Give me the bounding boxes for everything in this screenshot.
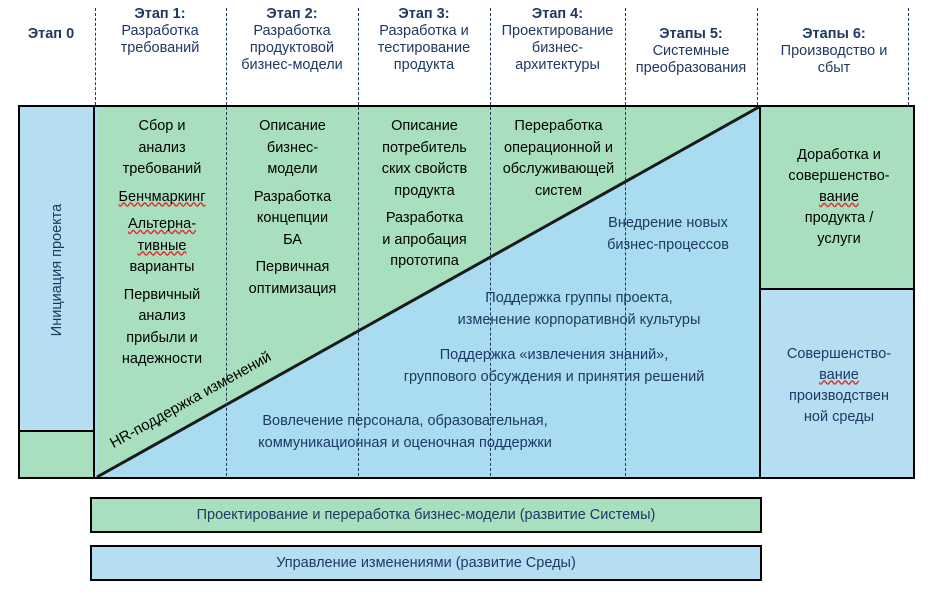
header-stage-4-sub-3: архитектуры — [492, 57, 623, 74]
header-stage-4-title: Этап 4: — [492, 6, 623, 23]
stage5-content: Внедрение новых бизнес-процессов — [578, 212, 758, 256]
legend-bar-environment: Управление изменениями (развитие Среды) — [90, 545, 762, 581]
stage6-green-text: Доработка и совершенство- вание продукта… — [788, 145, 889, 250]
stage2-item-3: Первичная оптимизация — [229, 257, 356, 300]
header-divider-3 — [490, 8, 491, 105]
stage1-item-4: Первичный анализ прибыли и надежности — [99, 285, 225, 371]
header-stage-2-sub-3: бизнес-модели — [228, 57, 356, 74]
header-stage-1-title: Этап 1: — [97, 6, 223, 23]
header-stage-3-sub-2: тестирование — [360, 40, 488, 57]
stage1-item-3: Альтерна- тивные варианты — [99, 214, 225, 279]
header-divider-4 — [625, 8, 626, 105]
header-stage-0-title: Этап 0 — [8, 26, 94, 43]
legend-bar-system: Проектирование и переработка бизнес-моде… — [90, 497, 762, 533]
header-stage-4-sub-1: Проектирование — [492, 23, 623, 40]
header-stage-3: Этап 3: Разработка и тестирование продук… — [360, 6, 488, 74]
header-stage-2-title: Этап 2: — [228, 6, 356, 23]
stage3-content: Описание потребитель ских свойств продук… — [361, 116, 488, 273]
stage0-vertical-label: Инициация проекта — [20, 107, 95, 432]
main-diagram-frame: Инициация проекта Сбор и анализ требован… — [18, 105, 915, 479]
legend-bar-environment-label: Управление изменениями (развитие Среды) — [276, 555, 576, 571]
header-stage-6-sub-2: сбыт — [760, 60, 908, 77]
header-stage-5-sub-2: преобразования — [627, 60, 755, 77]
blue-block-3: Вовлечение персонала, образовательная, к… — [205, 410, 605, 454]
stage4-item-1: Переработка операционной и обслуживающей… — [492, 116, 625, 202]
header-stage-2: Этап 2: Разработка продуктовой бизнес-мо… — [228, 6, 356, 74]
blue-block-1: Поддержка группы проекта, изменение корп… — [400, 287, 758, 331]
stage0-vertical-label-text: Инициация проекта — [50, 203, 66, 335]
header-divider-5 — [757, 8, 758, 105]
stage6-blue-text: Совершенство- вание производствен ной ср… — [787, 344, 891, 428]
diagram-root: Этап 0 Этап 1: Разработка требований Эта… — [0, 0, 930, 614]
header-stage-4: Этап 4: Проектирование бизнес- архитекту… — [492, 6, 623, 74]
header-stage-0: Этап 0 — [8, 26, 94, 43]
legend-bar-system-label: Проектирование и переработка бизнес-моде… — [197, 507, 656, 523]
blue-block-2: Поддержка «извлечения знаний», групповог… — [350, 344, 758, 388]
stage6-cell-green: Доработка и совершенство- вание продукта… — [759, 107, 915, 290]
header-divider-2 — [358, 8, 359, 105]
header-stage-1-sub-1: Разработка — [97, 23, 223, 40]
header-divider-0 — [95, 8, 96, 105]
stage3-item-2: Разработка и апробация прототипа — [361, 208, 488, 273]
stage1-item-2: Бенчмаркинг — [99, 187, 225, 209]
header-stage-3-sub-1: Разработка и — [360, 23, 488, 40]
header-stage-6-title: Этапы 6: — [760, 26, 908, 43]
stage0-cell-green — [20, 432, 95, 479]
header-stage-2-sub-1: Разработка — [228, 23, 356, 40]
header-stage-3-title: Этап 3: — [360, 6, 488, 23]
stage4-content: Переработка операционной и обслуживающей… — [492, 116, 625, 202]
header-stage-6: Этапы 6: Производство и сбыт — [760, 26, 908, 77]
header-stage-1-sub-2: требований — [97, 40, 223, 57]
header-stage-5: Этапы 5: Системные преобразования — [627, 26, 755, 77]
header-stage-5-sub-1: Системные — [627, 43, 755, 60]
header-divider-1 — [226, 8, 227, 105]
header-stage-3-sub-3: продукта — [360, 57, 488, 74]
stage2-item-1: Описание бизнес- модели — [229, 116, 356, 181]
stage1-item-1: Сбор и анализ требований — [99, 116, 225, 181]
header-stage-1: Этап 1: Разработка требований — [97, 6, 223, 57]
stage2-item-2: Разработка концепции БА — [229, 187, 356, 252]
stage6-cell-blue: Совершенство- вание производствен ной ср… — [759, 290, 915, 479]
stage3-item-1: Описание потребитель ских свойств продук… — [361, 116, 488, 202]
header-stage-4-sub-2: бизнес- — [492, 40, 623, 57]
stage1-content: Сбор и анализ требований Бенчмаркинг Аль… — [99, 116, 225, 371]
header-stage-6-sub-1: Производство и — [760, 43, 908, 60]
header-stage-2-sub-2: продуктовой — [228, 40, 356, 57]
header-divider-6 — [908, 8, 909, 105]
stage2-content: Описание бизнес- модели Разработка конце… — [229, 116, 356, 300]
header-stage-5-title: Этапы 5: — [627, 26, 755, 43]
